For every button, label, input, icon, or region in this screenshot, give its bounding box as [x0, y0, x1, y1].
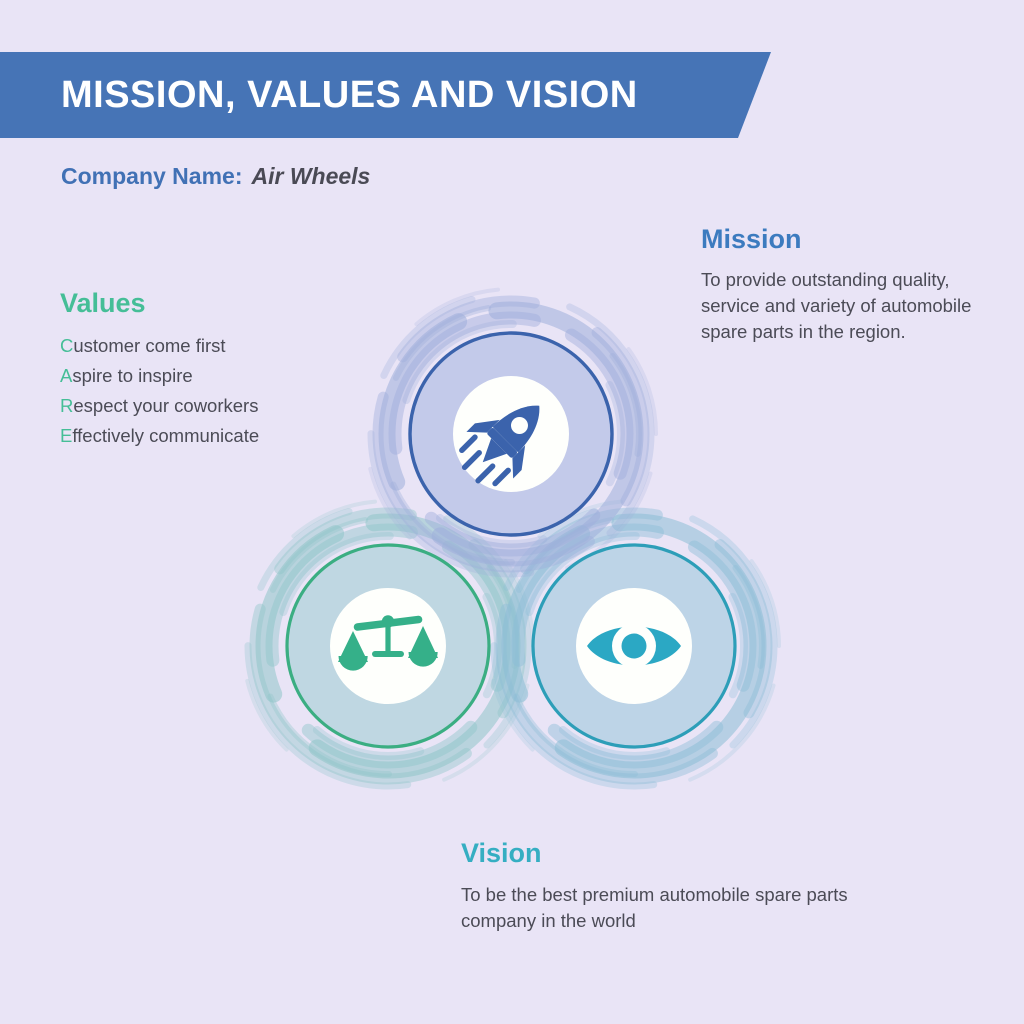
company-name-line: Company Name:Air Wheels [61, 163, 370, 190]
values-item-text: ustomer come first [73, 335, 225, 356]
three-circle-diagram [222, 252, 802, 804]
values-item-initial: A [60, 365, 72, 386]
values-item-initial: E [60, 425, 72, 446]
vision-circle[interactable] [533, 545, 735, 747]
mission-circle[interactable] [410, 333, 612, 535]
diagram-svg [222, 252, 802, 804]
values-item-text: spire to inspire [72, 365, 192, 386]
values-item-initial: R [60, 395, 73, 416]
vision-heading: Vision [461, 838, 861, 869]
values-circle[interactable] [287, 545, 489, 747]
mission-heading: Mission [701, 224, 986, 255]
company-name-value: Air Wheels [251, 163, 370, 189]
vision-text: To be the best premium automobile spare … [461, 882, 861, 934]
page-title: MISSION, VALUES AND VISION [61, 52, 638, 138]
vision-section: Vision To be the best premium automobile… [461, 838, 861, 934]
company-name-label: Company Name: [61, 163, 242, 189]
header-banner: MISSION, VALUES AND VISION [0, 52, 790, 138]
values-item-initial: C [60, 335, 73, 356]
